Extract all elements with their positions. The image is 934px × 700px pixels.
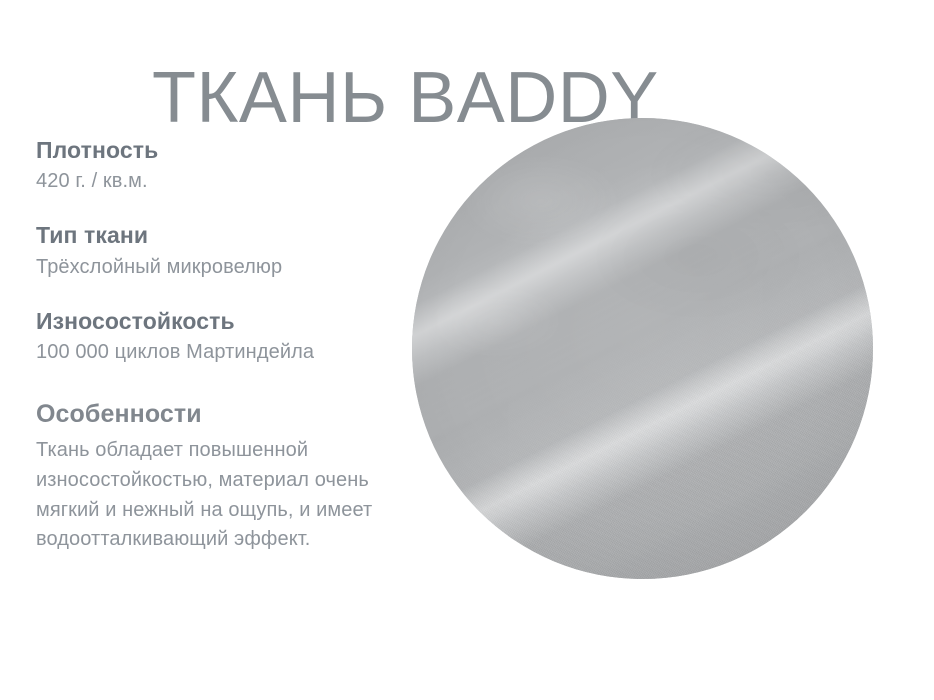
fabric-photo-vignette [412,118,873,579]
spec-value-fabric-type: Трёхслойный микровелюр [36,254,396,281]
spec-item-features: Особенности Ткань обладает повышенной из… [36,398,396,554]
fabric-spec-card: ТКАНЬ BADDY Плотность 420 г. / кв.м. Тип… [0,0,934,700]
spec-value-abrasion-resistance: 100 000 циклов Мартиндейла [36,339,396,366]
fabric-swatch-photo [412,118,873,579]
spec-label-density: Плотность [36,136,396,165]
spec-item-abrasion-resistance: Износостойкость 100 000 циклов Мартиндей… [36,307,396,366]
spec-value-features: Ткань обладает повышенной износостойкост… [36,436,381,554]
spec-item-fabric-type: Тип ткани Трёхслойный микровелюр [36,221,396,280]
spec-value-density: 420 г. / кв.м. [36,168,396,195]
spec-label-features: Особенности [36,398,396,430]
spec-label-abrasion-resistance: Износостойкость [36,307,396,336]
spec-item-density: Плотность 420 г. / кв.м. [36,136,396,195]
spec-list: Плотность 420 г. / кв.м. Тип ткани Трёхс… [36,136,396,555]
spec-label-fabric-type: Тип ткани [36,221,396,250]
